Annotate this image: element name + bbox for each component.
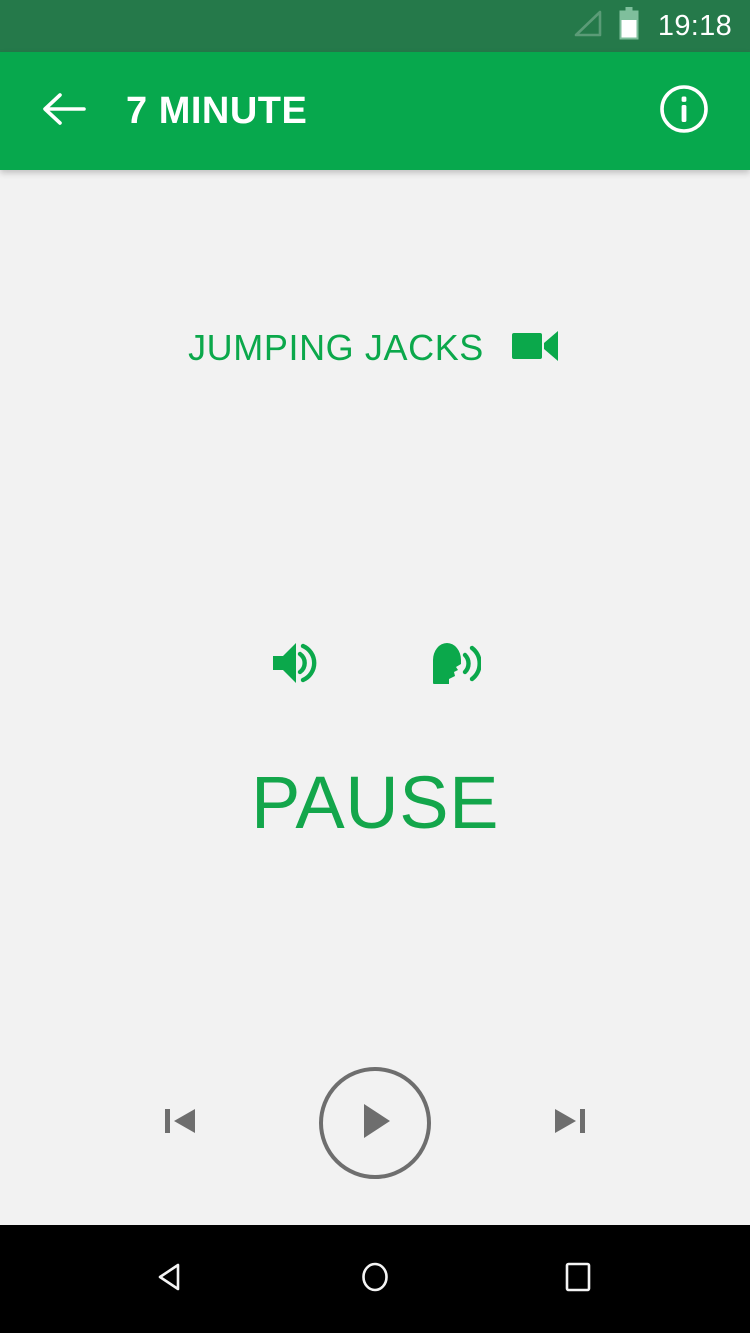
app-root: 19:18 7 MINUTE JUMPIN — [0, 0, 750, 1333]
record-voice-over-icon — [427, 639, 481, 692]
skip-previous-icon — [157, 1098, 203, 1149]
volume-up-icon — [270, 639, 322, 692]
nav-home-circle-icon — [355, 1257, 395, 1302]
volume-toggle[interactable] — [266, 635, 326, 695]
nav-recents-square-icon — [558, 1257, 598, 1302]
workout-content: JUMPING JACKS — [0, 170, 750, 1225]
video-demo-button[interactable] — [510, 327, 562, 369]
nav-recents[interactable] — [540, 1241, 616, 1317]
info-button[interactable] — [654, 81, 714, 141]
sound-controls-row — [0, 635, 750, 695]
app-bar: 7 MINUTE — [0, 52, 750, 170]
android-nav-bar — [0, 1225, 750, 1333]
signal-triangle-icon — [570, 10, 604, 43]
play-button[interactable] — [319, 1067, 431, 1179]
voice-toggle[interactable] — [424, 635, 484, 695]
back-button[interactable] — [36, 83, 92, 139]
back-arrow-icon — [40, 89, 88, 134]
video-camera-icon — [511, 327, 561, 370]
info-circle-icon — [657, 82, 711, 141]
next-button[interactable] — [539, 1092, 601, 1154]
previous-button[interactable] — [149, 1092, 211, 1154]
battery-icon — [618, 7, 640, 46]
play-icon — [354, 1099, 396, 1148]
nav-back[interactable] — [134, 1241, 210, 1317]
page-title: 7 MINUTE — [126, 90, 307, 133]
exercise-row: JUMPING JACKS — [0, 327, 750, 369]
skip-next-icon — [547, 1098, 593, 1149]
status-bar: 19:18 — [0, 0, 750, 52]
nav-back-triangle-icon — [152, 1257, 192, 1302]
nav-home[interactable] — [337, 1241, 413, 1317]
player-controls-row — [0, 1067, 750, 1179]
status-icon-group: 19:18 — [570, 7, 732, 46]
status-time: 19:18 — [658, 12, 732, 41]
exercise-name: JUMPING JACKS — [188, 327, 484, 369]
workout-state-label: PAUSE — [0, 766, 750, 840]
